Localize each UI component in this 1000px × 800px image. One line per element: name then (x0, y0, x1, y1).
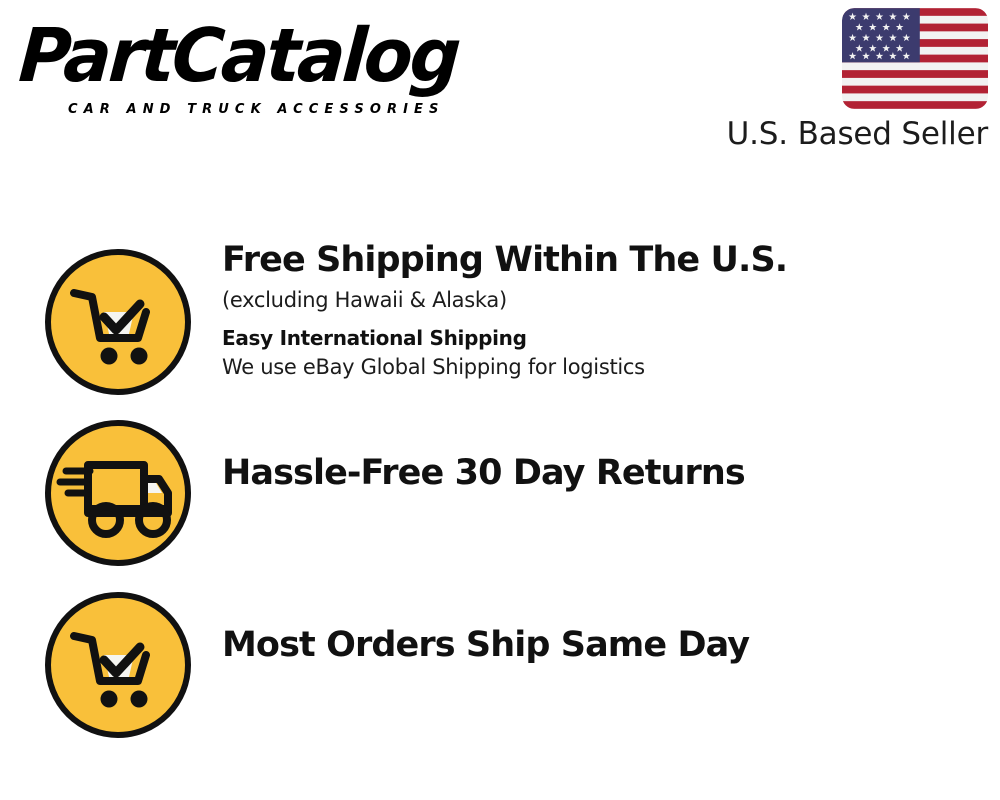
feature-row: Free Shipping Within The U.S. (excluding… (0, 236, 1000, 406)
feature-subtitle-strong: Easy International Shipping (222, 324, 1000, 352)
delivery-truck-icon (42, 417, 194, 569)
brand-tagline: CAR AND TRUCK ACCESSORIES (68, 102, 445, 118)
feature-title: Free Shipping Within The U.S. (222, 236, 1000, 284)
shopping-cart-check-icon (42, 246, 194, 398)
partcatalog-logo[interactable]: PartCatalog CAR AND TRUCK ACCESSORIES (22, 16, 502, 121)
feature-title: Hassle-Free 30 Day Returns (222, 449, 1000, 497)
feature-text-block: Free Shipping Within The U.S. (excluding… (194, 236, 1000, 382)
shopping-cart-check-icon (42, 589, 194, 741)
brand-wordmark: PartCatalog (17, 16, 461, 96)
feature-text-block: Hassle-Free 30 Day Returns (194, 407, 1000, 497)
feature-row: Most Orders Ship Same Day (0, 579, 1000, 750)
feature-subtitle: We use eBay Global Shipping for logistic… (222, 352, 1000, 382)
us-based-seller-badge: U.S. Based Seller (708, 8, 988, 153)
feature-text-block: Most Orders Ship Same Day (194, 579, 1000, 669)
page-header: PartCatalog CAR AND TRUCK ACCESSORIES (0, 0, 1000, 165)
us-flag-icon (842, 8, 988, 109)
feature-row: Hassle-Free 30 Day Returns (0, 407, 1000, 578)
feature-title: Most Orders Ship Same Day (222, 621, 1000, 669)
feature-note: (excluding Hawaii & Alaska) (222, 284, 1000, 316)
us-based-seller-label: U.S. Based Seller (708, 115, 988, 153)
